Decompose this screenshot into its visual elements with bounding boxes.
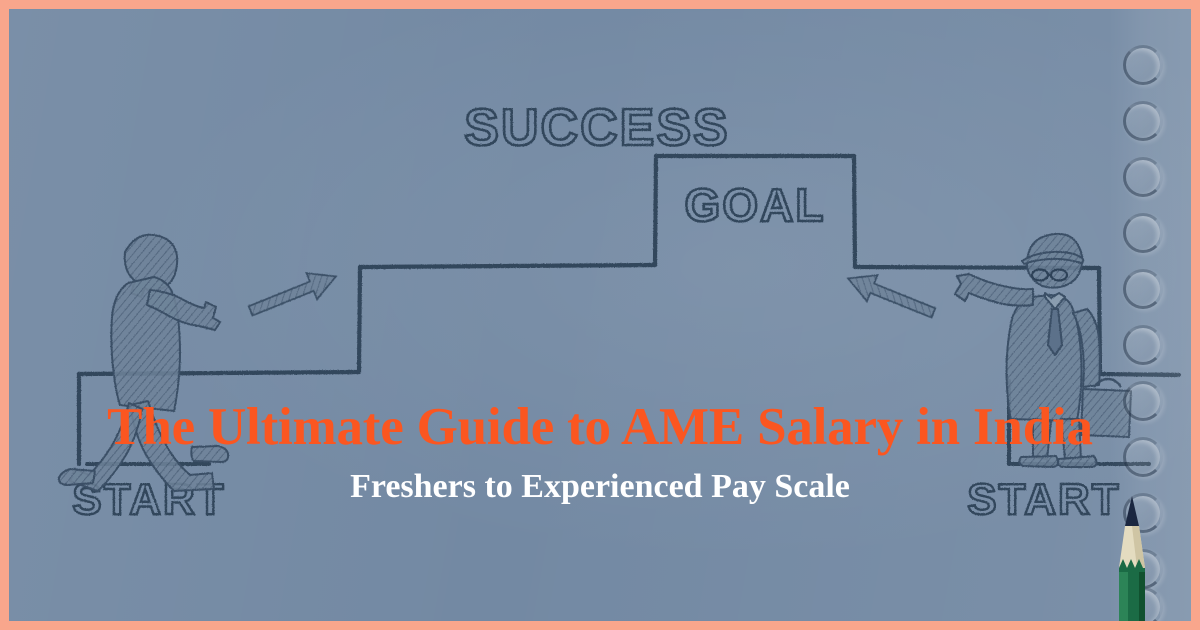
success-label: SUCCESS bbox=[464, 99, 729, 157]
arrow-up-left-icon bbox=[843, 265, 939, 325]
staircase-illustration: SUCCESS GOAL START START bbox=[9, 9, 1191, 621]
page-title: The Ultimate Guide to AME Salary in Indi… bbox=[9, 401, 1191, 454]
binding-hole bbox=[1123, 269, 1163, 309]
binding-hole bbox=[1123, 325, 1163, 365]
binding-hole bbox=[1123, 157, 1163, 197]
binding-hole bbox=[1123, 213, 1163, 253]
arrow-up-right-icon bbox=[245, 263, 341, 323]
notebook-paper: SUCCESS GOAL START START bbox=[9, 9, 1191, 621]
paper-shading bbox=[9, 9, 1191, 621]
binding-hole bbox=[1123, 45, 1163, 85]
headline-block: The Ultimate Guide to AME Salary in Indi… bbox=[9, 401, 1191, 504]
goal-label: GOAL bbox=[685, 179, 826, 231]
banner-image: SUCCESS GOAL START START bbox=[0, 0, 1200, 630]
binding-hole bbox=[1123, 101, 1163, 141]
pencil-icon bbox=[1114, 496, 1150, 621]
page-subtitle: Freshers to Experienced Pay Scale bbox=[9, 470, 1191, 504]
